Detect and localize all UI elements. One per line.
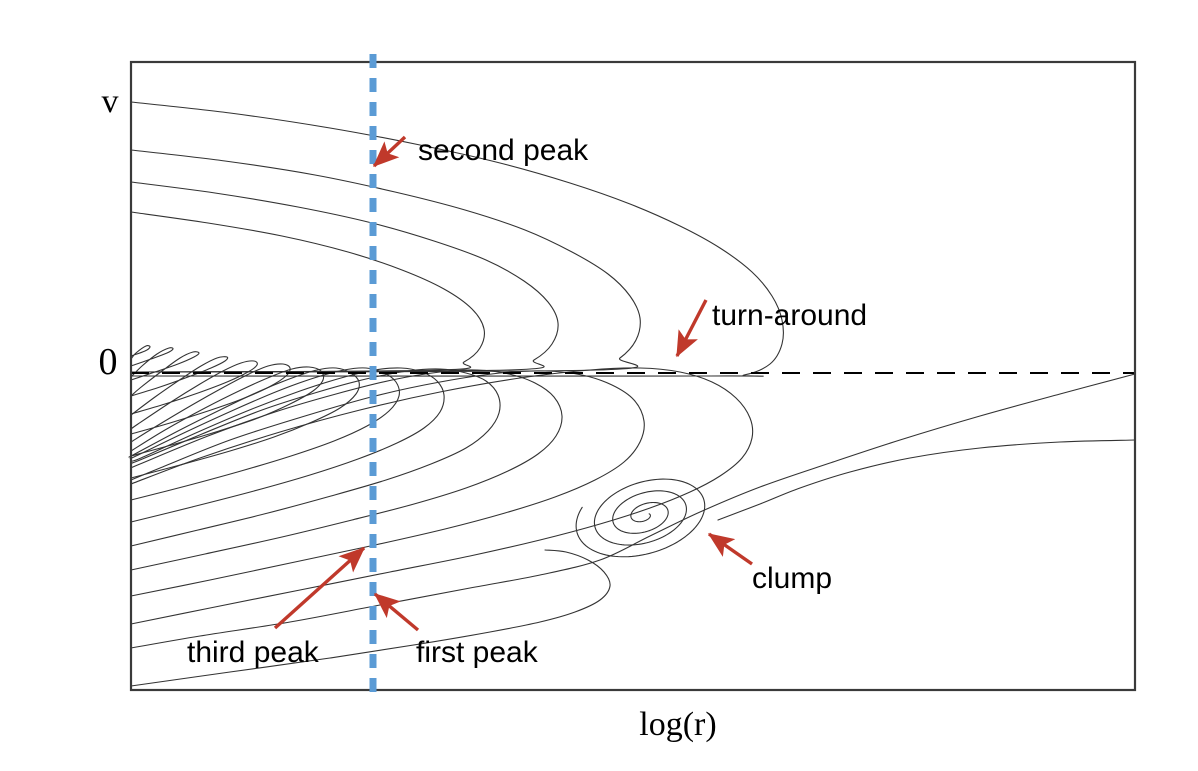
annotation-label-second-peak: second peak <box>418 134 589 167</box>
annotation-label-third-peak: third peak <box>187 636 320 669</box>
y-axis-zero-label: 0 <box>99 341 118 383</box>
annotation-label-clump: clump <box>752 562 832 595</box>
annotation-label-first-peak: first peak <box>416 636 539 669</box>
y-axis-top-label: v <box>102 83 119 120</box>
x-axis-label: log(r) <box>639 706 716 743</box>
figure-background <box>0 0 1198 771</box>
phase-space-caustic-diagram: second peakturn-aroundclumpthird peakfir… <box>0 0 1198 771</box>
annotation-label-turn-around: turn-around <box>712 299 867 332</box>
